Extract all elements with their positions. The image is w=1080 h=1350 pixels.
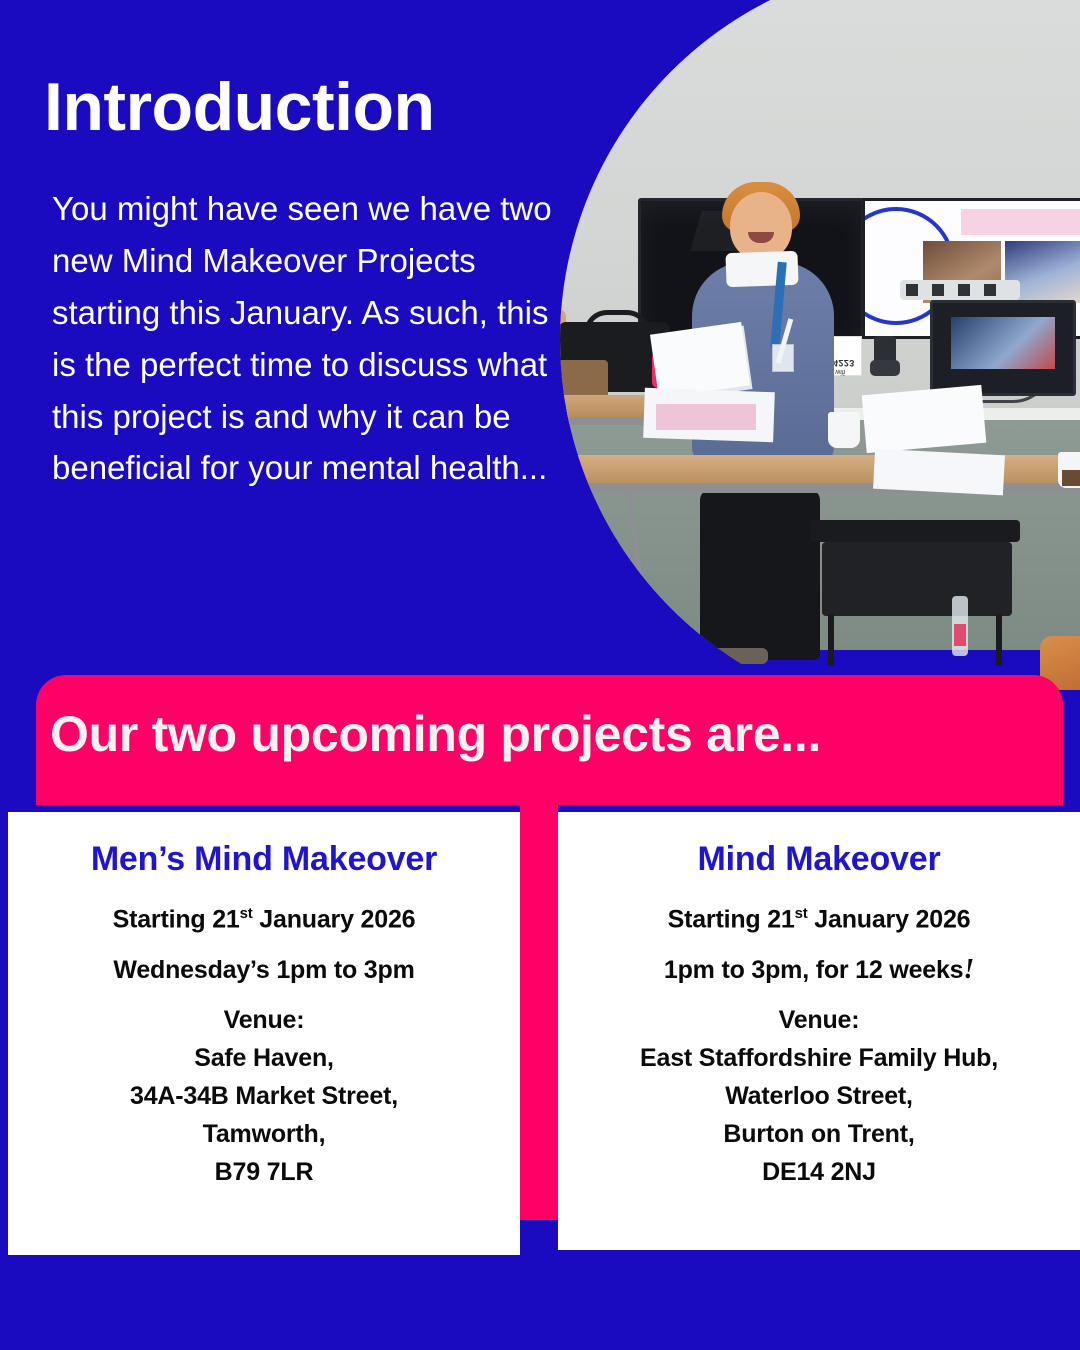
- person-collar: [725, 251, 798, 287]
- office-chair-seat: [822, 542, 1012, 616]
- venue-line: DE14 2NJ: [558, 1158, 1080, 1187]
- papers-stack: [650, 322, 750, 398]
- conference-camera: [874, 336, 896, 374]
- card-schedule: Wednesday’s 1pm to 3pm: [8, 954, 520, 986]
- water-bottle: [952, 596, 968, 656]
- schedule-exclamation: !: [963, 954, 974, 985]
- card-divider-blue: [520, 1220, 558, 1260]
- person-head: [730, 192, 792, 260]
- card-title: Mind Makeover: [558, 840, 1080, 879]
- papers-stack: [873, 449, 1005, 496]
- venue-label: Venue:: [8, 1006, 520, 1035]
- schedule-text: 1pm to 3pm, for 12 weeks: [664, 956, 963, 984]
- card-start-date: Starting 21st January 2026: [558, 905, 1080, 934]
- intro-body-text: You might have seen we have two new Mind…: [44, 183, 574, 494]
- person-legs: [700, 490, 820, 660]
- hero-photo: Guest wifi OMC04223: [560, 0, 1080, 690]
- office-chair-leg: [828, 614, 834, 666]
- card-start-date: Starting 21st January 2026: [8, 905, 520, 934]
- venue-line: 34A-34B Market Street,: [8, 1082, 520, 1111]
- start-date-suffix: January 2026: [253, 905, 416, 933]
- power-strip: [900, 280, 1020, 300]
- venue-line: Burton on Trent,: [558, 1120, 1080, 1149]
- office-chair-leg: [996, 614, 1002, 666]
- venue-line: East Staffordshire Family Hub,: [558, 1044, 1080, 1073]
- project-card-mens-mind-makeover[interactable]: Men’s Mind Makeover Starting 21st Januar…: [8, 812, 520, 1255]
- laptop: [930, 300, 1076, 396]
- venue-line: Tamworth,: [8, 1120, 520, 1149]
- start-date-ordinal: st: [795, 905, 808, 922]
- banner-heading: Our two upcoming projects are...: [50, 705, 1060, 763]
- page-title: Introduction: [44, 72, 574, 143]
- slide-title-bar: [961, 209, 1080, 235]
- card-schedule: 1pm to 3pm, for 12 weeks!: [558, 954, 1080, 986]
- office-chair-back: [810, 520, 1020, 542]
- hero-photo-circular-mask: Guest wifi OMC04223: [560, 0, 1080, 690]
- mug: [828, 412, 860, 448]
- meeting-room-photo: Guest wifi OMC04223: [560, 0, 1080, 650]
- card-divider-pink: [520, 805, 558, 1220]
- venue-line: B79 7LR: [8, 1158, 520, 1187]
- printed-handout: [656, 404, 756, 430]
- upcoming-projects-banner: Our two upcoming projects are...: [36, 675, 1063, 805]
- coffee-cup: [1058, 452, 1080, 488]
- start-date-prefix: Starting 21: [113, 905, 240, 933]
- venue-line: Waterloo Street,: [558, 1082, 1080, 1111]
- start-date-ordinal: st: [240, 905, 253, 922]
- intro-section: Introduction You might have seen we have…: [44, 72, 574, 494]
- venue-label: Venue:: [558, 1006, 1080, 1035]
- card-title: Men’s Mind Makeover: [8, 840, 520, 879]
- start-date-prefix: Starting 21: [668, 905, 795, 933]
- project-card-mind-makeover[interactable]: Mind Makeover Starting 21st January 2026…: [558, 812, 1080, 1250]
- venue-line: Safe Haven,: [8, 1044, 520, 1073]
- start-date-suffix: January 2026: [808, 905, 971, 933]
- person-shoe: [712, 648, 768, 664]
- card-venue-block: Venue: Safe Haven, 34A-34B Market Street…: [8, 1006, 520, 1187]
- papers-stack: [862, 385, 987, 453]
- card-venue-block: Venue: East Staffordshire Family Hub, Wa…: [558, 1006, 1080, 1187]
- schedule-text: Wednesday’s 1pm to 3pm: [113, 956, 414, 984]
